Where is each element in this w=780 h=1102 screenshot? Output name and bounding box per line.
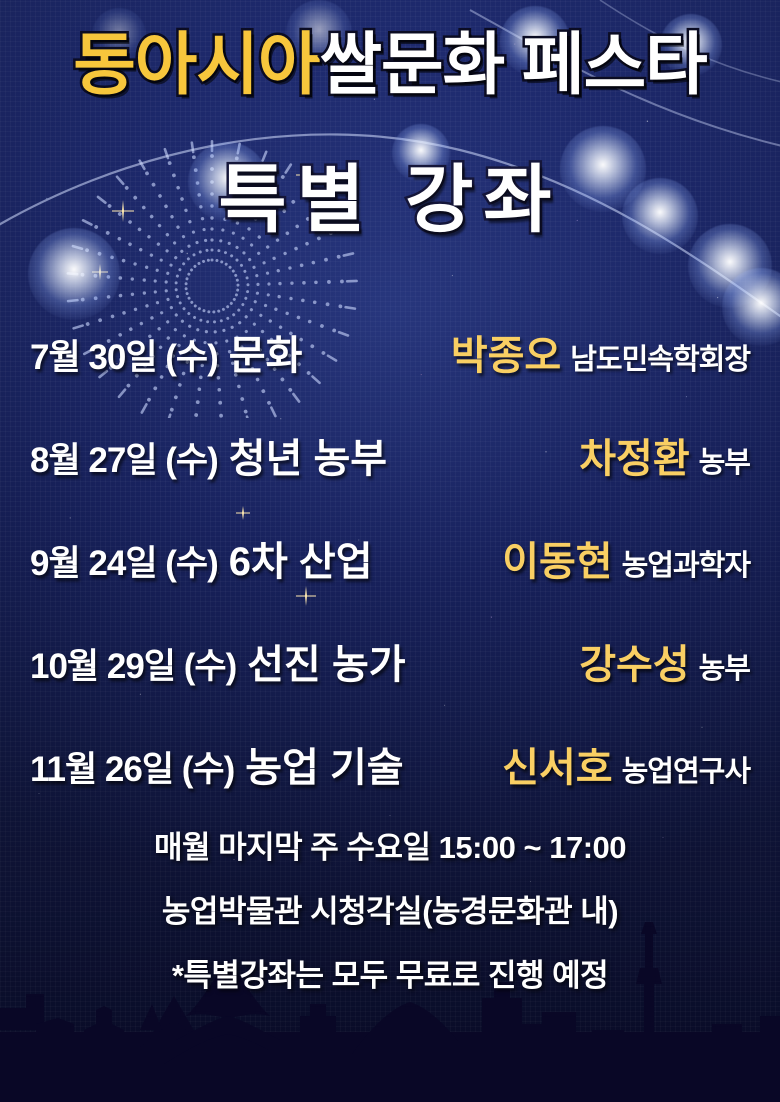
poster-canvas: 동아시아쌀문화 페스타 특별 강좌 7월 30일 (수) 문화 박종오 남도민속… — [0, 0, 780, 1102]
schedule-row-right: 강수성 농부 — [579, 632, 750, 690]
schedule-row-right: 차정환 농부 — [579, 426, 750, 484]
footer-schedule-note: 매월 마지막 주 수요일 15:00 ~ 17:00 — [0, 832, 780, 863]
lecture-date: 11월 26일 (수) — [30, 741, 234, 792]
speaker-name: 강수성 — [579, 632, 689, 690]
schedule-row-right: 이동현 농업과학자 — [502, 529, 750, 587]
speaker-title: 농업과학자 — [622, 542, 750, 584]
speaker-title: 농부 — [699, 645, 750, 687]
speaker-name: 신서호 — [502, 735, 612, 793]
schedule-row: 10월 29일 (수) 선진 농가 강수성 농부 — [30, 609, 750, 712]
speaker-name: 차정환 — [579, 426, 689, 484]
speaker-title: 농부 — [699, 439, 750, 481]
schedule-row-left: 11월 26일 (수) 농업 기술 — [30, 735, 404, 793]
lecture-schedule-list: 7월 30일 (수) 문화 박종오 남도민속학회장 8월 27일 (수) 청년 … — [30, 300, 750, 815]
footer-info: 매월 마지막 주 수요일 15:00 ~ 17:00 농업박물관 시청각실(농경… — [0, 832, 780, 991]
schedule-row: 7월 30일 (수) 문화 박종오 남도민속학회장 — [30, 300, 750, 403]
title-white-part: 쌀문화 페스타 — [319, 27, 706, 103]
lecture-date: 10월 29일 (수) — [30, 638, 236, 689]
schedule-row: 8월 27일 (수) 청년 농부 차정환 농부 — [30, 403, 750, 506]
schedule-row-left: 8월 27일 (수) 청년 농부 — [30, 426, 387, 484]
lecture-topic: 선진 농가 — [247, 632, 405, 690]
page-subtitle: 특별 강좌 — [0, 163, 780, 237]
footer-venue: 농업박물관 시청각실(농경문화관 내) — [0, 896, 780, 927]
speaker-title: 농업연구사 — [622, 748, 750, 790]
poster-content: 동아시아쌀문화 페스타 특별 강좌 7월 30일 (수) 문화 박종오 남도민속… — [0, 0, 780, 1102]
schedule-row-right: 신서호 농업연구사 — [502, 735, 750, 793]
lecture-topic: 6차 산업 — [229, 529, 373, 587]
lecture-date: 9월 24일 (수) — [30, 535, 218, 586]
schedule-row-left: 7월 30일 (수) 문화 — [30, 323, 302, 381]
lecture-topic: 문화 — [229, 323, 303, 381]
schedule-row-right: 박종오 남도민속학회장 — [451, 323, 750, 381]
schedule-row-left: 10월 29일 (수) 선진 농가 — [30, 632, 406, 690]
speaker-name: 박종오 — [451, 323, 561, 381]
schedule-row: 11월 26일 (수) 농업 기술 신서호 농업연구사 — [30, 712, 750, 815]
speaker-name: 이동현 — [502, 529, 612, 587]
footer-free-note: *특별강좌는 모두 무료로 진행 예정 — [0, 960, 780, 991]
lecture-topic: 농업 기술 — [245, 735, 403, 793]
lecture-date: 8월 27일 (수) — [30, 432, 218, 483]
title-gold-part: 동아시아 — [73, 27, 319, 103]
page-title: 동아시아쌀문화 페스타 — [0, 31, 780, 99]
lecture-topic: 청년 농부 — [229, 426, 387, 484]
schedule-row: 9월 24일 (수) 6차 산업 이동현 농업과학자 — [30, 506, 750, 609]
speaker-title: 남도민속학회장 — [570, 336, 750, 378]
lecture-date: 7월 30일 (수) — [30, 329, 218, 380]
schedule-row-left: 9월 24일 (수) 6차 산업 — [30, 529, 373, 587]
